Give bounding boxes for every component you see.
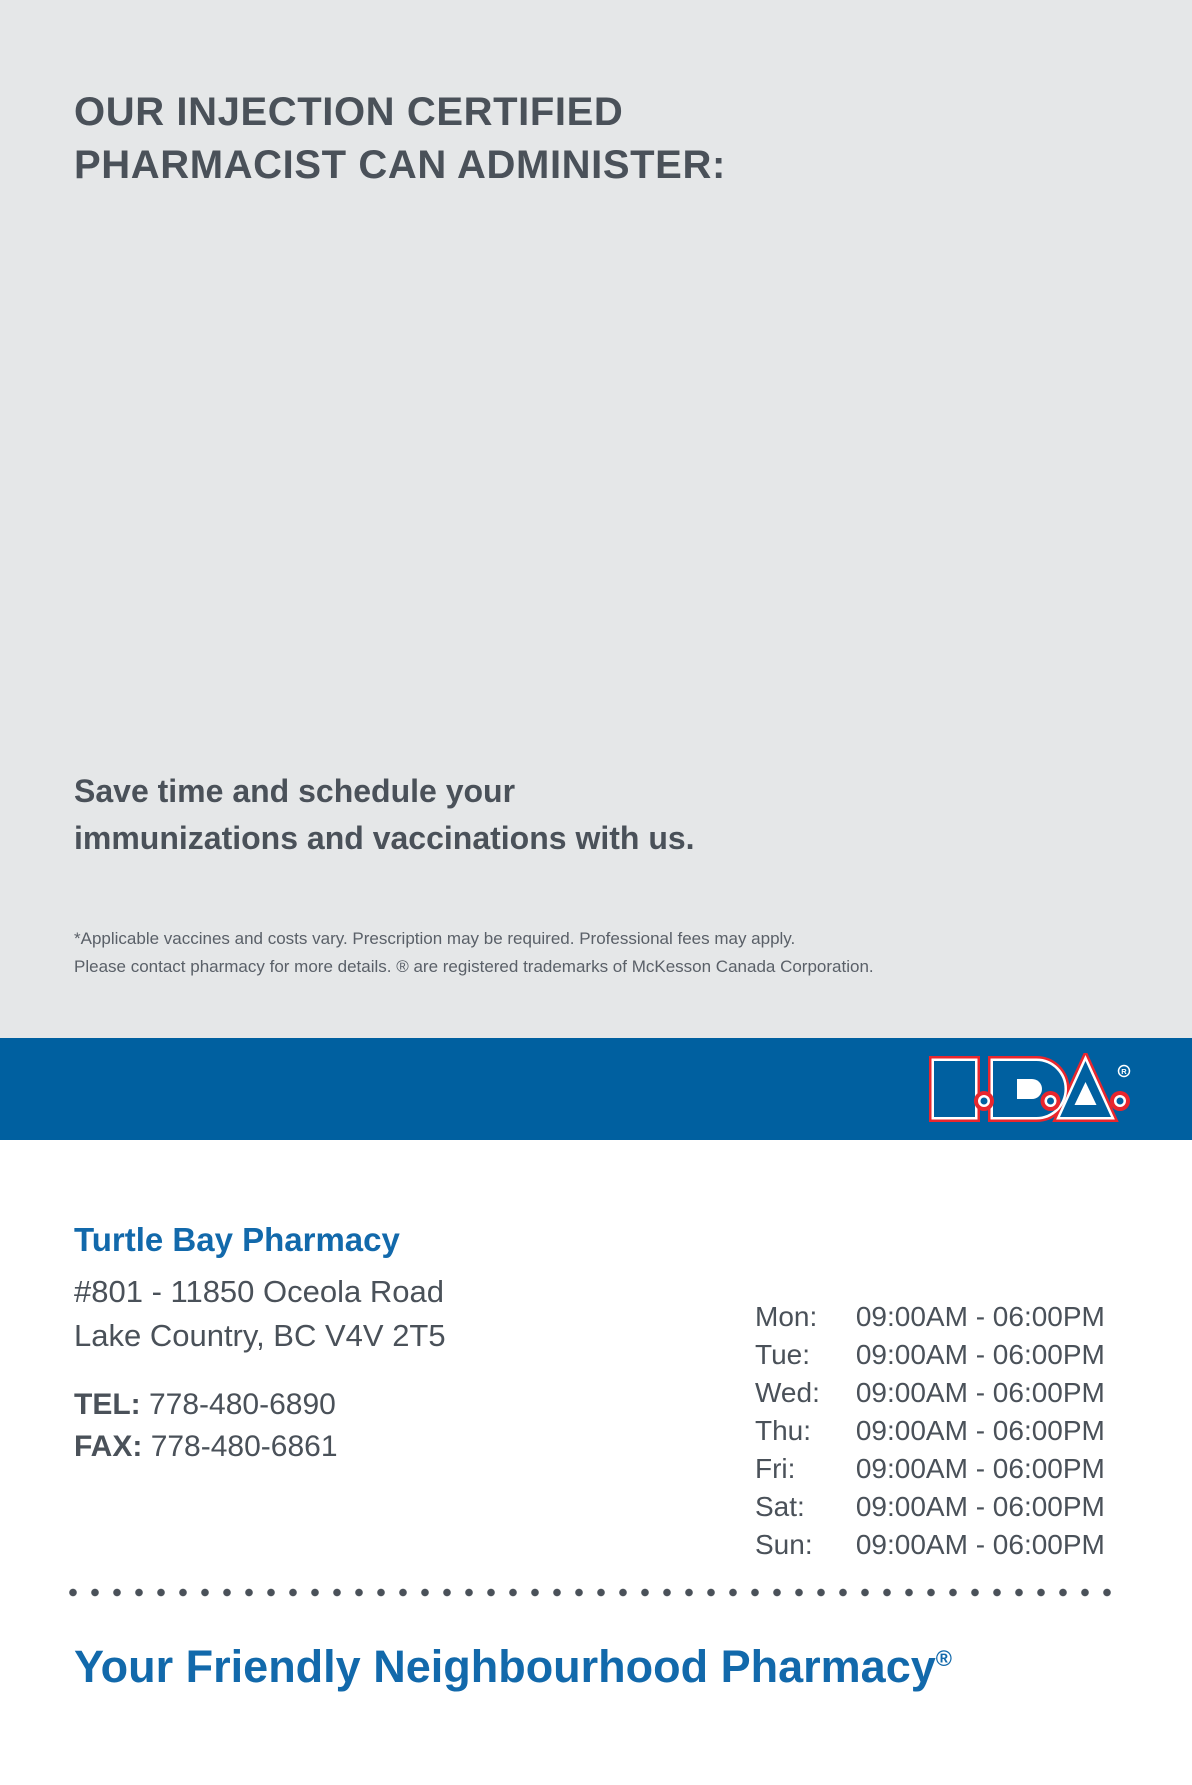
address-line-1: #801 - 11850 Oceola Road (74, 1270, 674, 1314)
fax-label: FAX: (74, 1430, 142, 1463)
table-row: Tue: 09:00AM - 06:00PM (755, 1336, 1105, 1374)
table-row: Sun: 09:00AM - 06:00PM (755, 1526, 1105, 1564)
headline-line-1: OUR INJECTION CERTIFIED (74, 86, 974, 139)
dotted-divider (62, 1588, 1122, 1597)
fax-row: FAX: 778-480-6861 (74, 1426, 674, 1469)
fax-value: 778-480-6861 (151, 1430, 338, 1463)
store-hours-table: Mon: 09:00AM - 06:00PM Tue: 09:00AM - 06… (755, 1298, 1105, 1565)
table-row: Thu: 09:00AM - 06:00PM (755, 1412, 1105, 1450)
svg-text:R: R (1121, 1067, 1127, 1076)
telephone-label: TEL: (74, 1388, 141, 1421)
address-line-2: Lake Country, BC V4V 2T5 (74, 1314, 674, 1358)
page-title: OUR INJECTION CERTIFIED PHARMACIST CAN A… (74, 86, 974, 192)
store-name: Turtle Bay Pharmacy (74, 1220, 674, 1260)
tagline: Your Friendly Neighbourhood Pharmacy® (74, 1640, 952, 1694)
subheading-line-1: Save time and schedule your (74, 768, 954, 815)
telephone-row: TEL: 778-480-6890 (74, 1384, 674, 1427)
hours-time-fri: 09:00AM - 06:00PM (856, 1450, 1105, 1488)
subheading-line-2: immunizations and vaccinations with us. (74, 815, 954, 862)
hours-day-sun: Sun: (755, 1526, 856, 1564)
hours-time-thu: 09:00AM - 06:00PM (856, 1412, 1105, 1450)
table-row: Wed: 09:00AM - 06:00PM (755, 1374, 1105, 1412)
hours-day-mon: Mon: (755, 1298, 856, 1336)
registered-trademark-icon: ® (936, 1646, 952, 1671)
brand-band: R (0, 1038, 1192, 1140)
hours-time-wed: 09:00AM - 06:00PM (856, 1374, 1105, 1412)
headline-line-2: PHARMACIST CAN ADMINISTER: (74, 139, 974, 192)
hours-day-wed: Wed: (755, 1374, 856, 1412)
store-details: Turtle Bay Pharmacy #801 - 11850 Oceola … (74, 1220, 674, 1469)
hours-day-fri: Fri: (755, 1450, 856, 1488)
hours-time-sun: 09:00AM - 06:00PM (856, 1526, 1105, 1564)
hours-day-tue: Tue: (755, 1336, 856, 1374)
ida-logo: R (929, 1053, 1134, 1125)
store-info-panel: Turtle Bay Pharmacy #801 - 11850 Oceola … (0, 1140, 1192, 1785)
table-row: Sat: 09:00AM - 06:00PM (755, 1488, 1105, 1526)
promo-panel: OUR INJECTION CERTIFIED PHARMACIST CAN A… (0, 0, 1192, 1038)
table-row: Fri: 09:00AM - 06:00PM (755, 1450, 1105, 1488)
disclaimer-text: *Applicable vaccines and costs vary. Pre… (74, 925, 1134, 980)
table-row: Mon: 09:00AM - 06:00PM (755, 1298, 1105, 1336)
contact-details: TEL: 778-480-6890 FAX: 778-480-6861 (74, 1384, 674, 1469)
subheading: Save time and schedule your immunization… (74, 768, 954, 863)
hours-day-sat: Sat: (755, 1488, 856, 1526)
store-address: #801 - 11850 Oceola Road Lake Country, B… (74, 1270, 674, 1358)
hours-day-thu: Thu: (755, 1412, 856, 1450)
telephone-value[interactable]: 778-480-6890 (149, 1388, 336, 1421)
hours-time-mon: 09:00AM - 06:00PM (856, 1298, 1105, 1336)
tagline-text: Your Friendly Neighbourhood Pharmacy (74, 1641, 936, 1692)
disclaimer-line-1: *Applicable vaccines and costs vary. Pre… (74, 925, 1134, 953)
hours-time-tue: 09:00AM - 06:00PM (856, 1336, 1105, 1374)
hours-time-sat: 09:00AM - 06:00PM (856, 1488, 1105, 1526)
disclaimer-line-2: Please contact pharmacy for more details… (74, 953, 1134, 981)
